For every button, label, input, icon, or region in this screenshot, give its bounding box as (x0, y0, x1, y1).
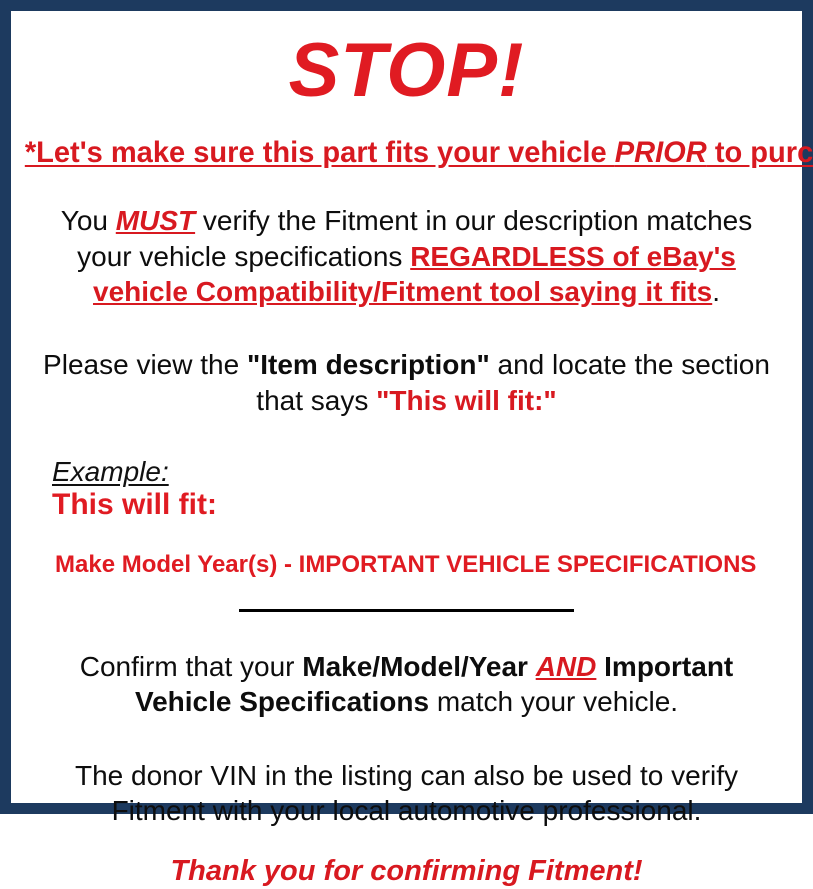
confirm-seg1: Confirm that your (80, 651, 303, 682)
this-will-fit-quote: "This will fit:" (376, 385, 557, 416)
subtitle-emphasis-prior: PRIOR (615, 136, 707, 169)
example-fit-heading: This will fit: (52, 488, 794, 523)
confirm-seg2: match your vehicle. (429, 686, 678, 717)
subtitle-text-part1: *Let's make sure this part fits your veh… (25, 136, 615, 169)
subtitle-text-part2: to purchasing* (707, 136, 813, 169)
must-seg3: . (712, 276, 720, 307)
divider-row (19, 609, 794, 621)
page-title: STOP! (19, 33, 794, 109)
make-model-year-emphasis: Make/Model/Year (302, 651, 528, 682)
subtitle-banner: *Let's make sure this part fits your veh… (25, 137, 788, 169)
confirm-space1 (528, 651, 536, 682)
item-description-label: "Item description" (247, 349, 490, 380)
view-seg1: Please view the (43, 349, 247, 380)
must-seg1: You (61, 205, 116, 236)
paragraph-must-verify: You MUST verify the Fitment in our descr… (19, 203, 794, 309)
section-divider (239, 609, 574, 612)
notice-content: STOP! *Let's make sure this part fits yo… (11, 11, 802, 803)
example-label: Example: (52, 456, 169, 487)
paragraph-confirm: Confirm that your Make/Model/Year AND Im… (19, 649, 794, 720)
example-block: Example: This will fit: Make Model Year(… (19, 456, 794, 578)
closing-thank-you: Thank you for confirming Fitment! (19, 854, 794, 889)
confirm-space2 (596, 651, 604, 682)
paragraph-view-description: Please view the "Item description" and l… (19, 347, 794, 418)
fitment-notice-card: STOP! *Let's make sure this part fits yo… (0, 0, 813, 814)
and-emphasis: AND (536, 651, 597, 682)
must-emphasis: MUST (116, 205, 195, 236)
paragraph-donor-vin: The donor VIN in the listing can also be… (19, 758, 794, 829)
example-spec-line: Make Model Year(s) - IMPORTANT VEHICLE S… (52, 551, 794, 579)
example-label-row: Example: (52, 456, 794, 487)
